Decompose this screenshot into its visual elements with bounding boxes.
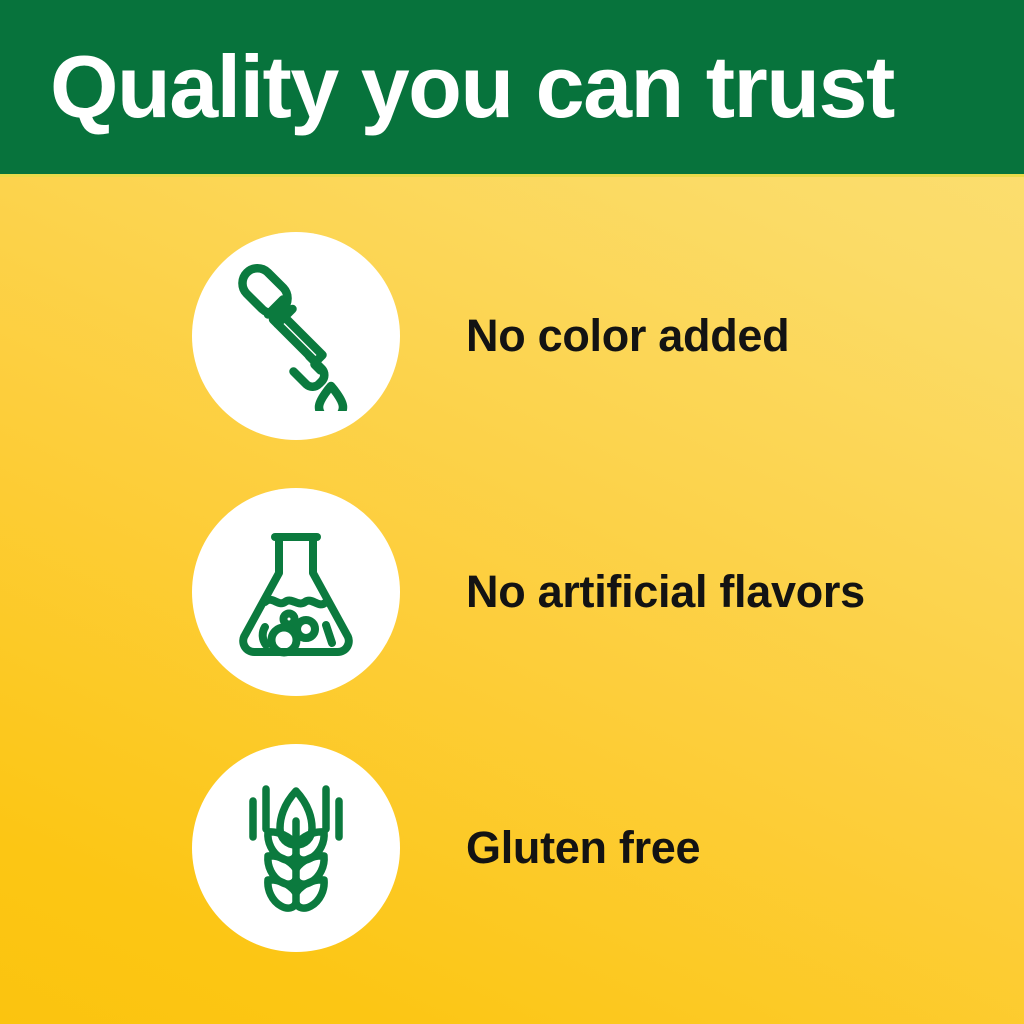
feature-item-no-artificial-flavors: No artificial flavors	[0, 488, 1024, 696]
wheat-icon	[221, 773, 371, 923]
feature-label: Gluten free	[466, 744, 700, 952]
feature-label: No artificial flavors	[466, 488, 865, 696]
flask-icon	[221, 517, 371, 667]
feature-list: No color added	[0, 177, 1024, 1024]
feature-icon-badge	[192, 488, 400, 696]
quality-banner: Quality you can trust	[0, 0, 1024, 1024]
feature-icon-badge	[192, 744, 400, 952]
feature-icon-badge	[192, 232, 400, 440]
page-title: Quality you can trust	[50, 31, 894, 143]
dropper-icon	[221, 261, 371, 411]
feature-item-gluten-free: Gluten free	[0, 744, 1024, 952]
feature-label: No color added	[466, 232, 789, 440]
feature-item-no-color-added: No color added	[0, 232, 1024, 440]
header-band: Quality you can trust	[0, 0, 1024, 174]
